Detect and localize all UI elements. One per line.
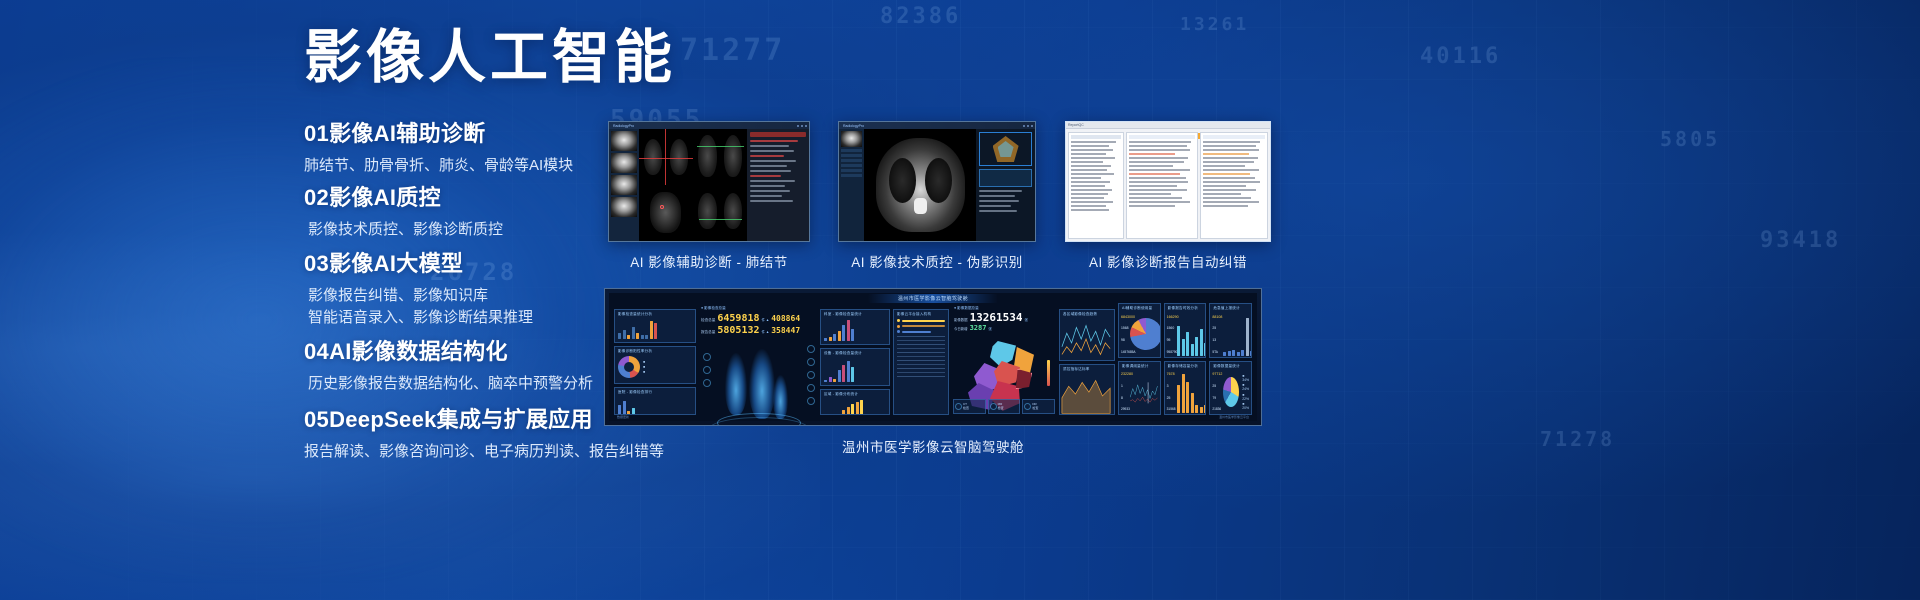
app-titlebar: RadiologyPro (839, 122, 1035, 129)
metric-value-reports: 5805132 (717, 325, 759, 336)
metric-label: 检查总量 (701, 318, 715, 323)
screenshot-card-ai-diagnosis[interactable]: RadiologyPro (608, 121, 810, 271)
bar-chart (821, 397, 889, 415)
kpi-tile[interactable]: DR检查 (1022, 399, 1055, 414)
app-label: RadiologyPro (841, 124, 864, 128)
kpi-row: CT检查 MR检查 DR检查 (952, 399, 1056, 415)
metric-block-data-volume: ● 影像数据总量 影像数据 13261534 张 今日新增 3287 张 (952, 303, 1056, 332)
feature-desc-line: 历史影像报告数据结构化、脑卒中预警分析 (308, 373, 593, 395)
legend-item: ■ (643, 370, 645, 374)
legend-item: ■ (643, 365, 645, 369)
feature-desc-line: 影像技术质控、影像诊断质控 (308, 219, 503, 241)
dashboard-card-exam-type-share[interactable]: 影像数据量统计 97712 25 79 21836 ■ 34% (1209, 361, 1252, 416)
card-title: 影像检查量统计分析 (615, 310, 695, 317)
qc-result-panel[interactable] (976, 129, 1035, 241)
pentagon-radar-chart (979, 132, 1032, 166)
original-report-panel[interactable] (1126, 132, 1198, 239)
feature-item-04: 04AI影像数据结构化 历史影像报告数据结构化、脑卒中预警分析 (304, 334, 593, 395)
dashboard-card-dept-volume[interactable]: 科室 - 影像检查量统计 (820, 309, 890, 345)
dashboard-card[interactable]: 温州市医学影像云智脑驾驶舱 影像检查量统计分析 影像诊断阳性率分析 (604, 288, 1262, 456)
bar-chart (615, 395, 695, 415)
card-title: 区域 - 影像分布统计 (821, 390, 889, 397)
donut-chart (618, 356, 640, 378)
metric-unit: 件 ▲ (762, 329, 770, 334)
window-dot-icon (797, 125, 799, 127)
feature-desc: 历史影像报告数据结构化、脑卒中预警分析 (304, 373, 593, 395)
feature-title: 01影像AI辅助诊断 (304, 116, 573, 148)
screenshot-image: RadiologyPro (838, 121, 1036, 242)
feature-list-column: 影像人工智能 01影像AI辅助诊断 肺结节、肋骨骨折、肺炎、骨龄等AI模块 02… (304, 28, 704, 89)
series-list[interactable] (839, 129, 864, 241)
app-label: ReportQC (1068, 123, 1084, 127)
ct-coronal-view[interactable] (694, 129, 748, 185)
feature-desc: 影像报告纠错、影像知识库 智能语音录入、影像诊断结果推理 (304, 285, 533, 329)
region-map[interactable] (952, 335, 1056, 396)
feature-title: 04AI影像数据结构化 (304, 334, 593, 366)
dashboard-right-grid: AI辅助诊断使用量 6843000 1568 98 1457685A (1118, 303, 1252, 415)
dashboard-column-3: 科室 - 影像检查量统计 设备 - 影像检查量统计 (820, 303, 890, 415)
bg-digit: 82386 (880, 0, 961, 38)
dashboard-card-region-trend[interactable]: 各区域影像检查趋势 (1059, 309, 1115, 361)
legend-item: ■ (643, 360, 645, 364)
dashboard-card-region-dist[interactable]: 区域 - 影像分布统计 (820, 389, 890, 415)
feature-item-02: 02影像AI质控 影像技术质控、影像诊断质控 (304, 180, 503, 241)
human-body-visual (699, 339, 817, 415)
line-chart (1129, 369, 1160, 416)
card-title: 设备 - 影像检查量统计 (821, 349, 889, 356)
window-dot-icon (1031, 125, 1033, 127)
metric-value-exams-delta: 408864 (771, 314, 800, 323)
report-body (1066, 130, 1270, 241)
screenshot-caption: AI 影像技术质控 - 伪影识别 (838, 251, 1036, 271)
dashboard-title: 温州市医学影像云智脑驾驶舱 (868, 294, 998, 303)
card-title: 影像调阅量统计 (1119, 362, 1160, 369)
legend-item: ■ 24% (1242, 383, 1249, 391)
dashboard-column-institutions: 影像云平台接入机构 (893, 303, 949, 415)
dashboard-card-retrieval-volume[interactable]: 影像调阅量统计 232280 1 8 29933 (1118, 361, 1161, 416)
screenshot-caption: AI 影像诊断报告自动纠错 (1065, 251, 1271, 271)
dashboard-card-ai-usage[interactable]: AI辅助诊断使用量 6843000 1568 98 1457685A (1118, 303, 1161, 358)
card-title: 影像数据量统计 (1210, 362, 1251, 369)
screenshot-caption: AI 影像辅助诊断 - 肺结节 (608, 251, 810, 271)
feature-item-03: 03影像AI大模型 影像报告纠错、影像知识库 智能语音录入、影像诊断结果推理 (304, 246, 533, 329)
metric-label: 影像数据 (954, 317, 968, 322)
window-dot-icon (801, 125, 803, 127)
map-legend-scale (1047, 360, 1050, 386)
window-dot-icon (1023, 125, 1025, 127)
dashboard-card-exam-volume[interactable]: 影像检查量统计分析 (614, 309, 696, 343)
footer-left: 数据更新 (617, 415, 629, 420)
dashboard-card-hospital-rank[interactable]: 医院 - 影像检查排行 (614, 387, 696, 415)
card-title: 影像诊断阳性率分析 (615, 347, 695, 354)
dashboard-column-1: 影像检查量统计分析 影像诊断阳性率分析 (614, 303, 696, 415)
metric-value-images: 13261534 (970, 311, 1023, 324)
card-title: 质控指标达标率 (1060, 365, 1114, 372)
dashboard-canvas: 温州市医学影像云智脑驾驶舱 影像检查量统计分析 影像诊断阳性率分析 (609, 293, 1257, 421)
bg-digit: 40116 (1420, 36, 1501, 78)
kpi-tile[interactable]: MR检查 (988, 399, 1021, 414)
dashboard-card-institutions[interactable]: 影像云平台接入机构 (893, 309, 949, 415)
metric-value-reports-delta: 358447 (771, 326, 800, 335)
dashboard-column-metrics: ● 影像检查总量 检查总量 6459818 件 ▲ 408864 报告总量 58… (699, 303, 817, 415)
app-label: RadiologyPro (611, 124, 634, 128)
metric-block: ● 影像检查总量 检查总量 6459818 件 ▲ 408864 报告总量 58… (699, 303, 817, 336)
feature-desc-line: 智能语音录入、影像诊断结果推理 (308, 307, 533, 329)
dashboard-caption: 温州市医学影像云智脑驾驶舱 (604, 436, 1262, 456)
qc-chart (979, 169, 1032, 187)
metric-value-exams: 6459818 (717, 313, 759, 324)
card-title: 各区域影像检查趋势 (1060, 310, 1114, 317)
feature-desc-line: 肺结节、肋骨骨折、肺炎、骨龄等AI模块 (304, 155, 573, 177)
ai-result-panel[interactable] (747, 129, 809, 241)
window-dot-icon (1027, 125, 1029, 127)
dashboard-card-qc-rate[interactable]: 质控指标达标率 (1059, 364, 1115, 416)
kpi-tile[interactable]: CT检查 (953, 399, 986, 414)
metric-unit: 张 (1025, 317, 1028, 322)
app-titlebar: RadiologyPro (609, 122, 809, 129)
worklist-panel[interactable] (1068, 132, 1124, 239)
card-title: 影像报告时效分析 (1165, 304, 1206, 311)
legend-item: ■ 22% (1242, 393, 1249, 401)
screenshot-image: RadiologyPro (608, 121, 810, 242)
card-title: 科室 - 影像检查量统计 (821, 310, 889, 317)
viewer-body (609, 129, 809, 241)
page-title: 影像人工智能 (304, 28, 704, 89)
dashboard-image: 温州市医学影像云智脑驾驶舱 影像检查量统计分析 影像诊断阳性率分析 (604, 288, 1262, 426)
card-title: 影像存储容量分析 (1165, 362, 1206, 369)
feature-item-01: 01影像AI辅助诊断 肺结节、肋骨骨折、肺炎、骨龄等AI模块 (304, 116, 573, 177)
bar-chart (615, 317, 695, 341)
bar-chart (821, 317, 889, 343)
screenshot-card-ai-qc[interactable]: RadiologyPro (838, 121, 1036, 271)
window-dot-icon (805, 125, 807, 127)
feature-desc: 影像技术质控、影像诊断质控 (304, 219, 503, 241)
legend-item: ■ 34% (1242, 374, 1249, 382)
feature-title: 03影像AI大模型 (304, 246, 533, 278)
dashboard-card-report-timeliness[interactable]: 影像报告时效分析 166290 1560 95 958790 (1164, 303, 1207, 358)
area-chart (1060, 372, 1114, 416)
institution-list[interactable] (894, 317, 948, 379)
card-title: AI辅助诊断使用量 (1119, 304, 1160, 311)
screenshot-card-report-correction[interactable]: ReportQC (1065, 121, 1271, 271)
thumbnail-strip[interactable] (609, 129, 639, 241)
line-chart (1060, 317, 1114, 361)
image-viewports[interactable] (639, 129, 747, 241)
app-titlebar: ReportQC (1066, 122, 1270, 129)
corrected-report-panel[interactable] (1200, 132, 1268, 239)
metric-unit: 张 (988, 326, 991, 331)
metric-unit: 件 ▲ (762, 317, 770, 322)
feature-title: 02影像AI质控 (304, 180, 503, 212)
pie-chart (1130, 318, 1161, 350)
metric-group-title: ● 影像检查总量 (701, 306, 815, 311)
bg-digit: 93418 (1760, 220, 1841, 262)
dashboard-card-storage[interactable]: 影像存储容量分析 7678 3 25 31568 (1164, 361, 1207, 416)
dashboard-footer: 数据更新 温州市医学影像云平台 (609, 415, 1257, 420)
ct-sagittal-view[interactable] (639, 186, 693, 242)
alert-banner (750, 132, 806, 137)
legend-item: ■ 20% (1242, 402, 1249, 410)
ct-3d-view[interactable] (694, 186, 748, 242)
ct-main-view[interactable] (864, 129, 976, 241)
bg-digit: 5805 (1660, 120, 1720, 158)
bg-digit: 71278 (1540, 420, 1615, 458)
dashboard-column-map: ● 影像数据总量 影像数据 13261534 张 今日新增 3287 张 (952, 303, 1056, 415)
dashboard-card-device-volume[interactable]: 设备 - 影像检查量统计 (820, 348, 890, 386)
viewer-body (839, 129, 1035, 241)
metric-value-today: 3287 (970, 324, 987, 332)
metric-label: 今日新增 (954, 326, 968, 331)
screenshot-image: ReportQC (1065, 121, 1271, 242)
card-title: 医院 - 影像检查排行 (615, 388, 695, 395)
ct-axial-view[interactable] (639, 129, 693, 185)
donut-chart (1223, 377, 1239, 407)
card-title: 危急值上报统计 (1210, 304, 1251, 311)
dashboard-card-critical-values[interactable]: 危急值上报统计 88108 25 13 5TA (1209, 303, 1252, 358)
card-title: 影像云平台接入机构 (894, 310, 948, 317)
feature-desc-line: 影像报告纠错、影像知识库 (308, 285, 533, 307)
footer-right: 温州市医学影像云平台 (1219, 415, 1249, 420)
metric-label: 报告总量 (701, 330, 715, 335)
feature-desc: 肺结节、肋骨骨折、肺炎、骨龄等AI模块 (304, 155, 573, 177)
dashboard-card-positive-rate[interactable]: 影像诊断阳性率分析 ■ ■ ■ (614, 346, 696, 384)
bg-digit: 13261 (1180, 8, 1249, 42)
bar-chart (821, 356, 889, 384)
dashboard-column-trends: 各区域影像检查趋势 质控指标达标率 (1059, 303, 1115, 415)
